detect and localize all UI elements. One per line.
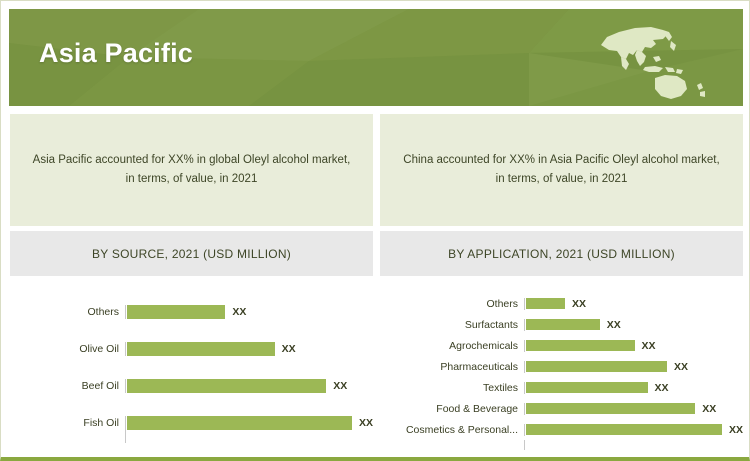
bar [526, 298, 565, 309]
callout-text: Asia Pacific accounted for XX% in global… [30, 151, 353, 189]
chart-row: Surfactants XX [380, 314, 743, 335]
category-label: Beef Oil [10, 380, 125, 392]
bar-value-label: XX [642, 340, 656, 352]
chart-by-source: Others XX Olive Oil XX Beef Oil [10, 281, 373, 449]
chart-row: Agrochemicals XX [380, 335, 743, 356]
bar [127, 379, 326, 393]
callout-china: China accounted for XX% in Asia Pacific … [380, 114, 743, 226]
bar-area: XX [125, 305, 373, 319]
bar-value-label: XX [674, 361, 688, 373]
bar [526, 319, 600, 330]
bar-area: XX [524, 298, 743, 310]
chart-rows: Others XX Surfactants XX Agrochemicals [380, 293, 743, 440]
chart-row: Cosmetics & Personal... XX [380, 419, 743, 440]
chart-row: Pharmaceuticals XX [380, 356, 743, 377]
bar-value-label: XX [607, 319, 621, 331]
bar-value-label: XX [655, 382, 669, 394]
chart-axis-line [524, 440, 525, 450]
section-header-by-application: BY APPLICATION, 2021 (USD MILLION) [380, 231, 743, 276]
page-title: Asia Pacific [39, 38, 193, 69]
bar-value-label: XX [572, 298, 586, 310]
bar-value-label: XX [359, 417, 373, 429]
bar [526, 424, 722, 435]
bar-value-label: XX [232, 306, 246, 318]
category-label: Olive Oil [10, 343, 125, 355]
category-label: Others [380, 298, 524, 310]
section-header-by-source: BY SOURCE, 2021 (USD MILLION) [10, 231, 373, 276]
bar-value-label: XX [729, 424, 743, 436]
chart-row: Fish Oil XX [10, 404, 373, 441]
bar [526, 340, 635, 351]
callout-text: China accounted for XX% in Asia Pacific … [400, 151, 723, 189]
callout-asia-pacific: Asia Pacific accounted for XX% in global… [10, 114, 373, 226]
bar-area: XX [125, 416, 373, 430]
bar [127, 416, 352, 430]
left-panel: Asia Pacific accounted for XX% in global… [10, 114, 373, 449]
category-label: Cosmetics & Personal... [380, 424, 524, 436]
chart-by-application: Others XX Surfactants XX Agrochemicals [380, 281, 743, 448]
category-label: Pharmaceuticals [380, 361, 524, 373]
category-label: Others [10, 306, 125, 318]
bar-value-label: XX [333, 380, 347, 392]
section-title: BY SOURCE, 2021 (USD MILLION) [92, 247, 291, 261]
bar [526, 361, 667, 372]
chart-row: Others XX [380, 293, 743, 314]
header-banner: Asia Pacific [9, 9, 743, 106]
chart-row: Beef Oil XX [10, 367, 373, 404]
bar [127, 305, 225, 319]
bar-area: XX [524, 403, 743, 415]
bar [526, 403, 695, 414]
bar-value-label: XX [702, 403, 716, 415]
bar-area: XX [524, 424, 743, 436]
chart-row: Textiles XX [380, 377, 743, 398]
asia-pacific-map-icon [593, 23, 721, 103]
chart-axis-line [125, 429, 126, 443]
bar-area: XX [524, 340, 743, 352]
category-label: Fish Oil [10, 417, 125, 429]
section-title: BY APPLICATION, 2021 (USD MILLION) [448, 247, 675, 261]
infographic-card: Asia Pacific [0, 0, 750, 461]
bar-area: XX [524, 382, 743, 394]
bar [127, 342, 275, 356]
bar [526, 382, 648, 393]
bar-value-label: XX [282, 343, 296, 355]
bar-area: XX [524, 319, 743, 331]
chart-row: Food & Beverage XX [380, 398, 743, 419]
chart-row: Others XX [10, 293, 373, 330]
chart-rows: Others XX Olive Oil XX Beef Oil [10, 293, 373, 441]
bar-area: XX [524, 361, 743, 373]
right-panel: China accounted for XX% in Asia Pacific … [380, 114, 743, 448]
chart-row: Olive Oil XX [10, 330, 373, 367]
category-label: Surfactants [380, 319, 524, 331]
bar-area: XX [125, 379, 373, 393]
category-label: Textiles [380, 382, 524, 394]
category-label: Agrochemicals [380, 340, 524, 352]
category-label: Food & Beverage [380, 403, 524, 415]
bar-area: XX [125, 342, 373, 356]
